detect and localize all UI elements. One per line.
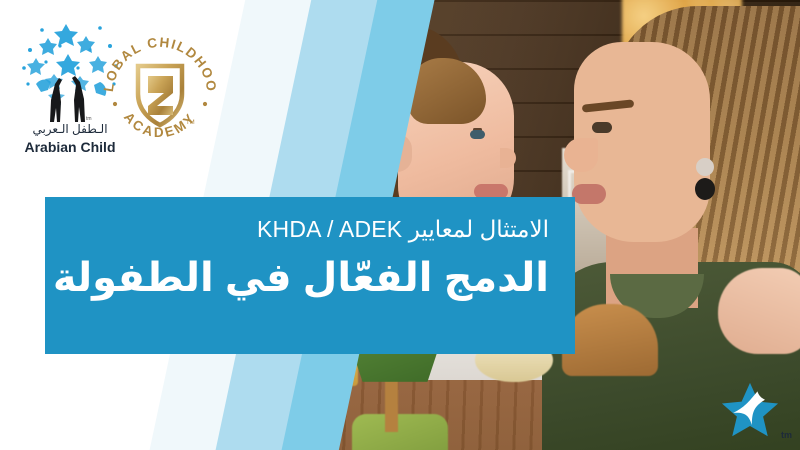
banner-title: الدمج الفعّال في الطفولة المبكرة [45, 253, 549, 303]
title-banner: الامتثال لمعايير KHDA / ADEK الدمج الفعّ… [45, 197, 575, 354]
star-logo: tm [718, 382, 790, 442]
gca-monogram [148, 76, 173, 115]
slide-canvas: tm الـطفل الـعربي Arabian Child GLOBAL C… [0, 0, 800, 450]
star-trademark: tm [781, 430, 792, 440]
gca-shield-outline [138, 66, 182, 125]
gca-trademark: TM [186, 120, 195, 126]
star-swoosh-icon [718, 382, 782, 440]
banner-subtitle: الامتثال لمعايير KHDA / ADEK [45, 215, 549, 245]
shield-badge-icon: GLOBAL CHILDHOOD ACADEMY TM [100, 32, 220, 152]
global-childhood-academy-logo: GLOBAL CHILDHOOD ACADEMY TM [100, 32, 220, 152]
